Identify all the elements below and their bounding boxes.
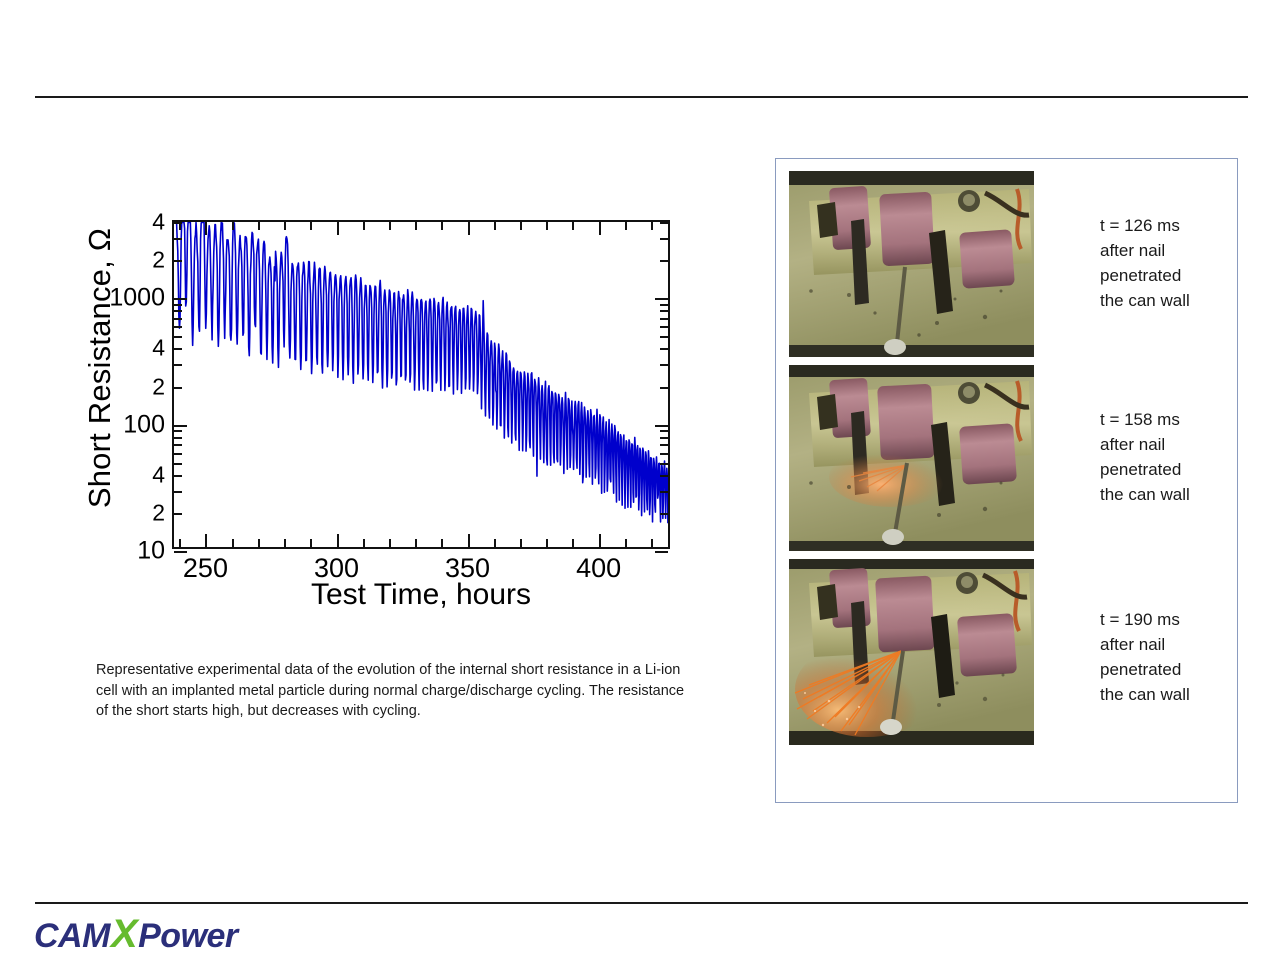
camx-power-logo: CAMXPower [34,914,238,954]
chart-caption: Representative experimental data of the … [96,660,696,722]
chart-y-tick-mark [174,430,182,432]
chart-y-tick-mark [174,475,182,477]
chart-y-tick-mark [174,513,182,515]
chart-y-tick-label: 4 [152,337,165,360]
photo-frame-3-caption: t = 190 ms after nail penetrated the can… [1100,607,1204,708]
chart-x-tick-mark [258,539,260,547]
chart-y-tick-label: 2 [152,375,165,398]
chart-y-tick-mark [655,551,668,553]
logo-text-x: X [110,912,138,956]
chart-y-tick-mark [660,463,668,465]
chart-plot-area: 102410024100024250300350400 [172,220,670,549]
chart-y-tick-mark [660,238,668,240]
chart-x-tick-mark [546,222,548,230]
chart-x-tick-mark [468,222,470,235]
chart-y-tick-label: 1000 [109,286,165,311]
chart-x-tick-mark [494,222,496,230]
chart-x-tick-mark [494,539,496,547]
chart-y-tick-mark [660,444,668,446]
chart-y-tick-mark [660,491,668,493]
footer-divider [35,902,1248,904]
photo-frame-2-row: t = 158 ms after nail penetrated the can… [789,365,1204,551]
chart-x-tick-mark [415,539,417,547]
chart-y-tick-mark [660,364,668,366]
photo-frame-2-caption: t = 158 ms after nail penetrated the can… [1100,407,1204,508]
chart-x-tick-mark [415,222,417,230]
chart-y-tick-mark [174,491,182,493]
chart-x-tick-mark [205,222,207,235]
chart-y-tick-label: 100 [123,412,165,437]
chart-y-tick-mark [174,304,182,306]
chart-x-tick-mark [284,222,286,230]
chart-x-tick-mark [520,222,522,230]
chart-x-tick-mark [572,222,574,230]
photo-frame-3-row: t = 190 ms after nail penetrated the can… [789,559,1204,745]
chart-x-tick-mark [546,539,548,547]
chart-x-tick-mark [441,539,443,547]
chart-y-tick-label: 2 [152,501,165,524]
chart-y-tick-mark [174,318,182,320]
chart-x-tick-mark [310,222,312,230]
chart-x-tick-mark [310,539,312,547]
chart-y-tick-mark [660,326,668,328]
chart-y-tick-mark [660,437,668,439]
chart-y-tick-mark [174,425,187,427]
chart-y-tick-mark [660,318,668,320]
chart-x-tick-mark [363,222,365,230]
chart-x-tick-mark [258,222,260,230]
chart-data-line [174,222,668,547]
chart-y-tick-mark [660,475,668,477]
photo-frame-2 [789,365,1034,551]
chart-y-tick-mark [174,310,182,312]
chart-y-tick-mark [174,453,182,455]
chart-y-tick-mark [660,310,668,312]
chart-y-tick-mark [655,298,668,300]
chart-x-tick-mark [520,539,522,547]
chart-x-tick-mark [337,534,339,547]
chart-y-tick-mark [174,387,182,389]
photo-frame-1 [789,171,1034,357]
photo-frame-1-row: t = 126 ms after nail penetrated the can… [789,171,1204,357]
chart-x-tick-mark [441,222,443,230]
chart-y-tick-mark [174,348,182,350]
chart-x-tick-mark [232,539,234,547]
chart-x-tick-mark [651,539,653,547]
chart-y-tick-mark [174,260,182,262]
chart-y-tick-mark [660,387,668,389]
chart-y-tick-mark [660,222,668,224]
chart-y-tick-mark [174,444,182,446]
chart-y-tick-mark [660,304,668,306]
chart-y-tick-mark [174,437,182,439]
chart-y-tick-label: 2 [152,249,165,272]
caption-line-1: Representative experimental data of the … [96,662,613,678]
chart-x-tick-mark [389,539,391,547]
chart-y-tick-mark [660,430,668,432]
chart-y-tick-mark [660,453,668,455]
chart-x-tick-mark [599,222,601,235]
chart-y-axis-label: Short Resistance, Ω [82,188,118,548]
chart-y-tick-label: 4 [152,463,165,486]
chart-y-tick-mark [660,348,668,350]
chart-y-tick-mark [174,463,182,465]
chart-x-tick-mark [572,539,574,547]
chart-y-tick-label: 10 [137,539,165,564]
chart-x-axis-label: Test Time, hours [172,578,670,612]
chart-container: Short Resistance, Ω 10241002410002425030… [52,200,712,650]
chart-y-tick-mark [174,298,187,300]
chart-x-tick-mark [651,222,653,230]
logo-text-power: Power [138,917,238,955]
chart-y-tick-mark [660,336,668,338]
chart-y-tick-mark [174,336,182,338]
chart-y-tick-label: 4 [152,211,165,234]
chart-y-tick-mark [660,260,668,262]
chart-x-tick-mark [205,534,207,547]
photo-frame-1-caption: t = 126 ms after nail penetrated the can… [1100,213,1204,314]
chart-x-tick-mark [179,539,181,547]
chart-x-tick-mark [363,539,365,547]
chart-y-tick-mark [655,425,668,427]
chart-x-tick-mark [232,222,234,230]
nail-penetration-panel: t = 126 ms after nail penetrated the can… [775,158,1238,803]
photo-frame-3 [789,559,1034,745]
header-divider [35,96,1248,98]
chart-y-tick-mark [174,364,182,366]
chart-y-tick-mark [174,238,182,240]
chart-x-tick-mark [389,222,391,230]
chart-y-tick-mark [174,326,182,328]
chart-x-tick-mark [284,539,286,547]
chart-x-tick-mark [599,534,601,547]
logo-text-cam: CAM [34,917,110,955]
chart-x-tick-mark [625,539,627,547]
chart-x-tick-mark [179,222,181,230]
chart-x-tick-mark [468,534,470,547]
chart-x-tick-mark [337,222,339,235]
chart-x-tick-mark [625,222,627,230]
chart-y-tick-mark [660,513,668,515]
